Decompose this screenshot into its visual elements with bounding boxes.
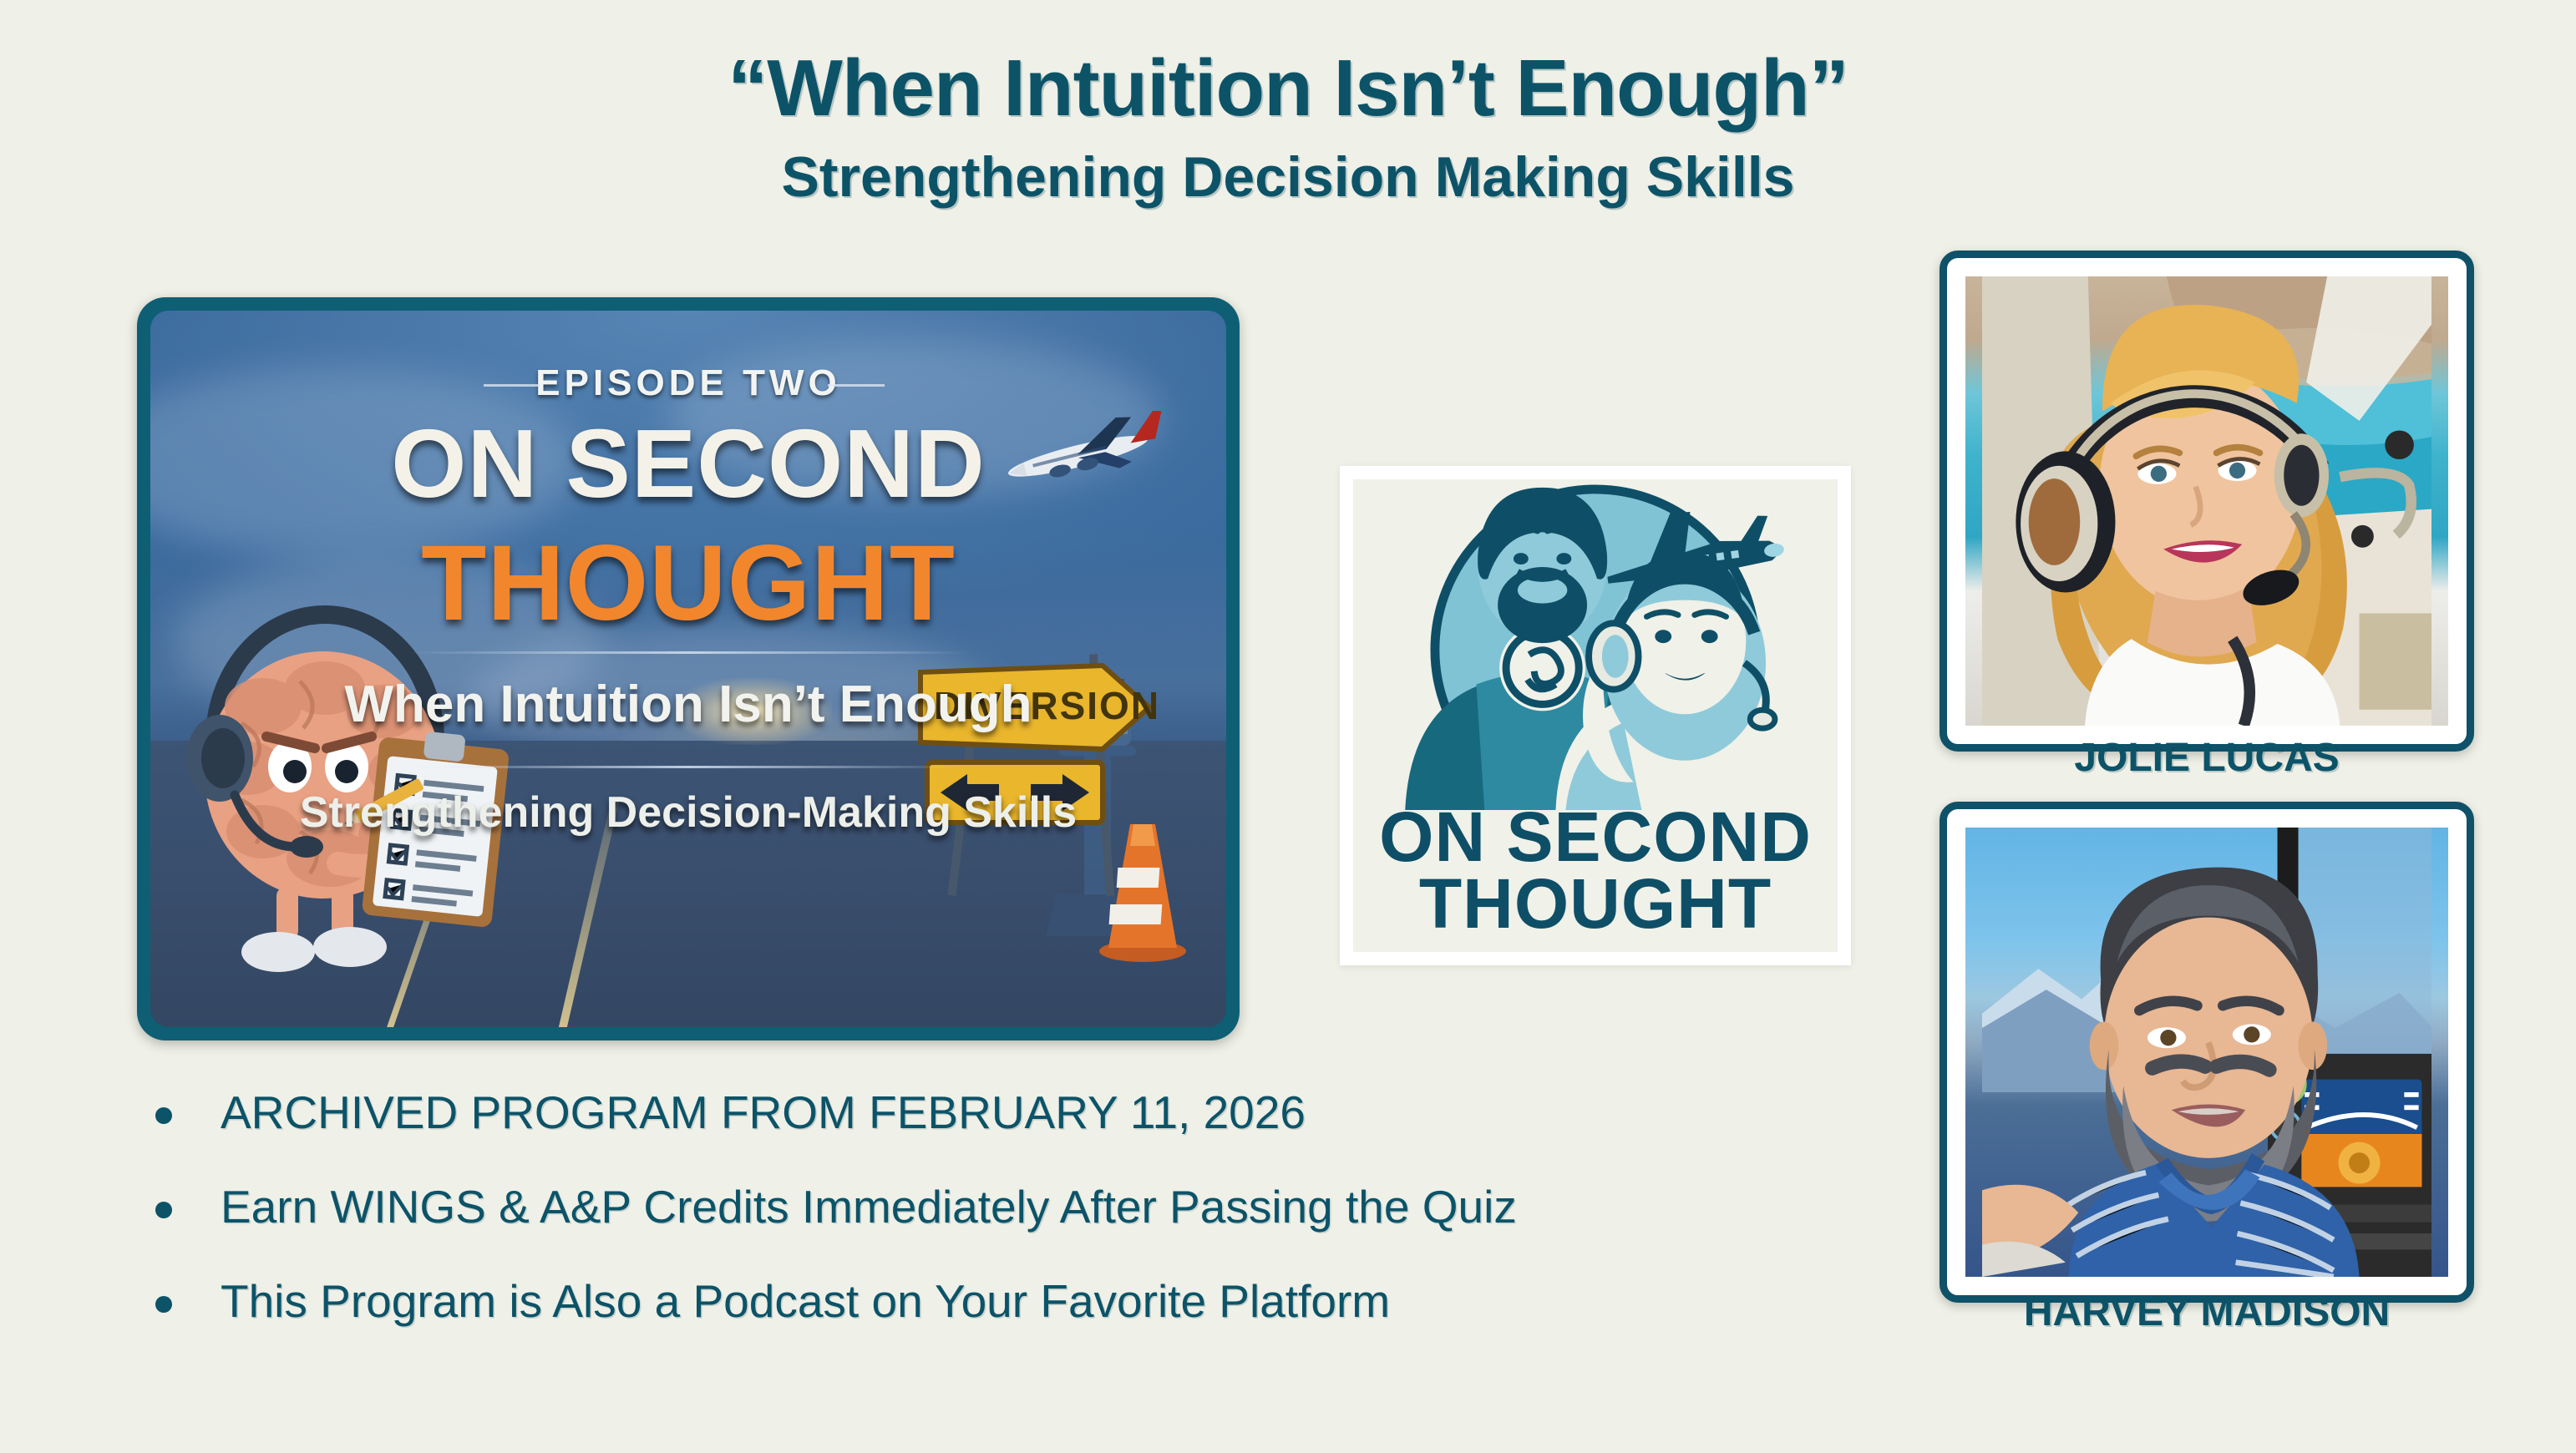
page-title: “When Intuition Isn’t Enough” [0,48,2576,129]
slide-title-block: “When Intuition Isn’t Enough” Strengthen… [0,48,2576,205]
host-photo-frame-harvey[interactable] [1940,802,2474,1303]
logo-line2: THOUGHT [1353,871,1838,938]
bullet-dot-icon [155,1296,172,1313]
host-photo-jolie [1965,276,2448,726]
hosts-illustration-icon [1353,479,1838,810]
logo-line1: ON SECOND [1353,804,1838,871]
host-photo-harvey [1965,828,2448,1277]
host-name-jolie: JOLIE LUCAS [1940,735,2474,781]
cover-art-canvas: DIVERSION EPISODE TWO ON SECOND THOUGHT … [150,311,1226,1027]
bullet-list: ARCHIVED PROGRAM FROM FEBRUARY 11, 2026 … [155,1086,1793,1369]
page-subtitle: Strengthening Decision Making Skills [0,149,2576,205]
cover-subtagline: Strengthening Decision-Making Skills [150,787,1226,838]
list-item: This Program is Also a Podcast on Your F… [155,1274,1793,1329]
divider-rule [484,384,540,387]
podcast-logo-card[interactable]: ON SECOND THOUGHT [1340,466,1851,965]
podcast-logo-canvas: ON SECOND THOUGHT [1353,479,1838,952]
list-item: ARCHIVED PROGRAM FROM FEBRUARY 11, 2026 [155,1086,1793,1140]
bullet-text: This Program is Also a Podcast on Your F… [221,1274,1390,1329]
divider-rule [408,651,968,654]
divider-rule [828,384,885,387]
episode-cover-art[interactable]: DIVERSION EPISODE TWO ON SECOND THOUGHT … [137,297,1240,1040]
list-item: Earn WINGS & A&P Credits Immediately Aft… [155,1180,1793,1234]
woman-pilot-portrait [1965,276,2448,726]
bullet-dot-icon [155,1202,172,1218]
bullet-text: ARCHIVED PROGRAM FROM FEBRUARY 11, 2026 [221,1086,1306,1140]
bullet-dot-icon [155,1107,172,1124]
podcast-logo-text: ON SECOND THOUGHT [1353,804,1838,938]
cover-title-line1: ON SECOND [150,408,1226,519]
bullet-text: Earn WINGS & A&P Credits Immediately Aft… [221,1180,1517,1234]
man-pilot-portrait [1965,828,2448,1277]
cover-tagline: When Intuition Isn’t Enough [150,675,1226,734]
cover-episode-label: EPISODE TWO [150,362,1226,404]
host-name-harvey: HARVEY MADISON [1940,1289,2474,1335]
host-photo-frame-jolie[interactable] [1940,251,2474,752]
cover-title-line2: THOUGHT [150,522,1226,645]
divider-rule [408,766,968,768]
